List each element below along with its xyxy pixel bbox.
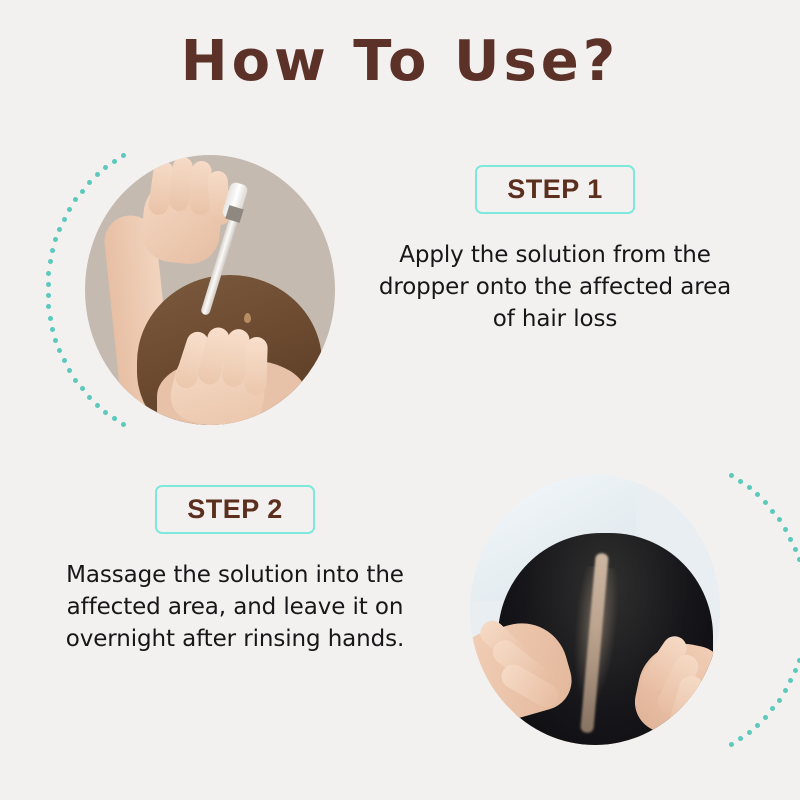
arc-dot [783, 527, 788, 532]
arc-dot [763, 715, 768, 720]
arc-dot [770, 509, 775, 514]
arc-dot [50, 327, 55, 332]
arc-dot [793, 668, 798, 673]
step-2-photo-circle [470, 475, 720, 745]
arc-dot [755, 492, 760, 497]
arc-dot [53, 338, 58, 343]
arc-dot [57, 348, 62, 353]
step-1-photo-circle [85, 155, 335, 425]
step-1-row: STEP 1 Apply the solution from the dropp… [0, 140, 800, 440]
arc-dot [48, 316, 53, 321]
arc-dot [62, 217, 67, 222]
arc-dot [95, 403, 100, 408]
arc-dot [738, 736, 743, 741]
arc-dot [777, 698, 782, 703]
arc-dot [57, 227, 62, 232]
arc-dot [87, 395, 92, 400]
arc-dot [755, 723, 760, 728]
arc-dot [67, 368, 72, 373]
step-2-text-block: STEP 2 Massage the solution into the aff… [45, 485, 425, 656]
arc-dot [87, 180, 92, 185]
arc-dot [738, 479, 743, 484]
arc-dot [797, 658, 800, 663]
arc-dot [783, 688, 788, 693]
arc-dot [729, 742, 734, 747]
arc-dot [729, 473, 734, 478]
arc-dot [73, 378, 78, 383]
step-1-text-block: STEP 1 Apply the solution from the dropp… [365, 165, 745, 336]
arc-dot [46, 293, 51, 298]
arc-dot [121, 422, 126, 427]
serum-drop-shape [244, 313, 251, 323]
arc-dot [797, 557, 800, 562]
arc-dot [763, 500, 768, 505]
finger-shape [244, 337, 268, 396]
step-1-badge: STEP 1 [475, 165, 635, 214]
arc-dot [747, 485, 752, 490]
arc-dot [747, 730, 752, 735]
arc-dot [788, 678, 793, 683]
page-title: How To Use? [0, 34, 800, 90]
arc-dot [62, 358, 67, 363]
arc-dot [67, 207, 72, 212]
step-1-photo [85, 155, 335, 425]
arc-dot [46, 271, 51, 276]
arc-dot [50, 248, 55, 253]
arc-dot [103, 410, 108, 415]
arc-dot [793, 547, 798, 552]
step-1-description: Apply the solution from the dropper onto… [365, 240, 745, 335]
arc-dot [788, 537, 793, 542]
arc-dot [73, 197, 78, 202]
arc-dot [53, 237, 58, 242]
step-2-badge: STEP 2 [155, 485, 315, 534]
arc-dot [112, 416, 117, 421]
arc-dot [80, 189, 85, 194]
arc-dot [103, 165, 108, 170]
arc-dot [777, 517, 782, 522]
step-2-photo [470, 475, 720, 745]
arc-dot [112, 159, 117, 164]
arc-dot [46, 282, 51, 287]
arc-dot [80, 386, 85, 391]
step-2-description: Massage the solution into the affected a… [45, 560, 425, 655]
arc-dot [48, 259, 53, 264]
arc-dot [95, 172, 100, 177]
arc-dot [121, 153, 126, 158]
arc-dot [770, 706, 775, 711]
step-2-row: STEP 2 Massage the solution into the aff… [0, 455, 800, 755]
arc-dot [46, 304, 51, 309]
